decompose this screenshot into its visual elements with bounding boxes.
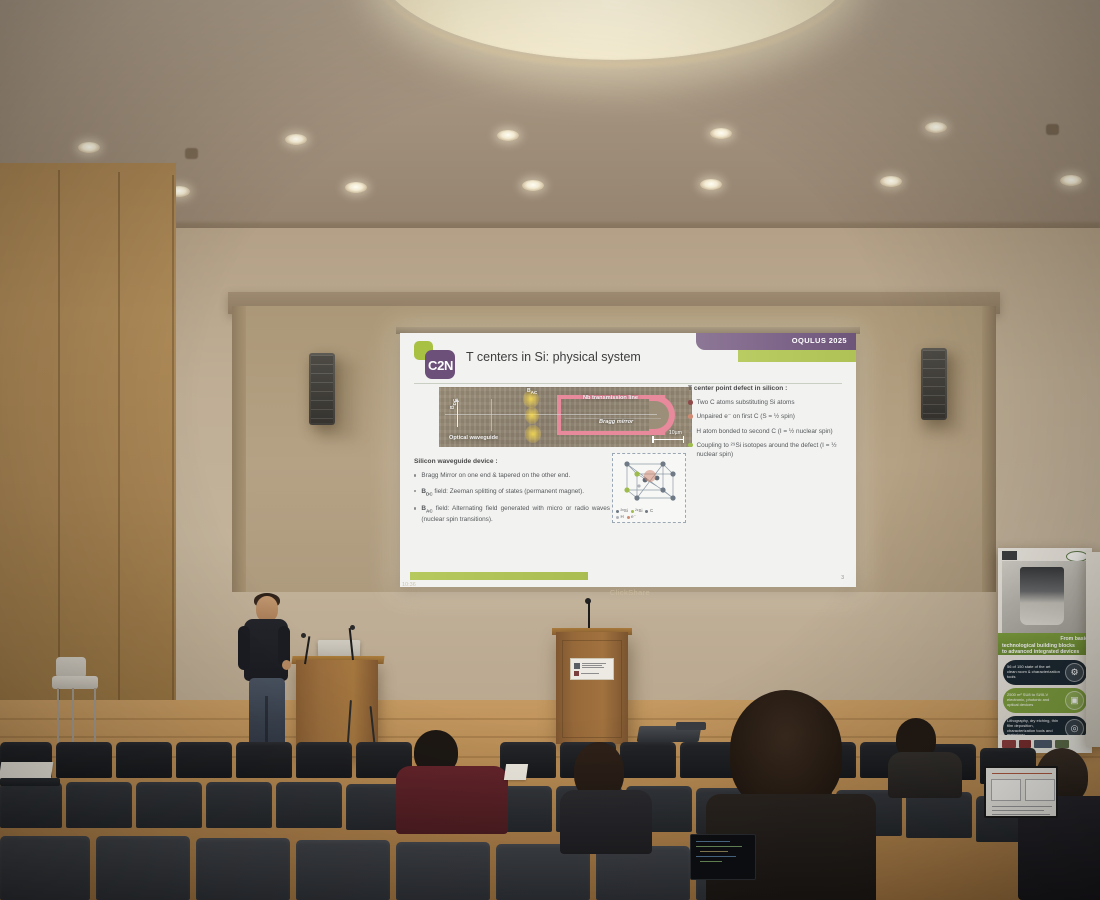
- nb-transmission-line-label: Nb transmission line: [583, 395, 638, 401]
- wood-seam: [58, 170, 60, 710]
- downlight-icon: [522, 180, 544, 191]
- bullet-text-rich: BAC field: Alternating field generated w…: [421, 504, 610, 525]
- slide-header-green-bar: [738, 350, 856, 362]
- scale-bar-label: 10µm: [669, 430, 682, 436]
- downlight-icon: [78, 142, 100, 153]
- seat: [176, 742, 232, 778]
- seat: [296, 742, 352, 778]
- banner-pill-text: 2500 m² SU8 to Si/III-V electronic, phot…: [1003, 693, 1065, 707]
- event-label: OQULUS 2025: [792, 336, 847, 345]
- podium-plaque: [570, 658, 614, 680]
- crystal-legend: ²⁸Si ²⁹Si C H e⁻: [616, 508, 684, 520]
- plaque-row: [574, 671, 610, 676]
- wall-recess-left-jamb: [232, 306, 246, 592]
- legend-item: H: [616, 514, 624, 520]
- seat: [296, 840, 390, 900]
- stool-leg: [72, 688, 74, 743]
- bullet-item: Bragg Mirror on one end & tapered on the…: [414, 471, 610, 481]
- bullet-item: BDC field: Zeeman splitting of states (p…: [414, 487, 610, 498]
- plaque-text-lines: [582, 663, 606, 668]
- desk-ledge: [0, 778, 60, 786]
- code-line: [696, 841, 730, 842]
- ceiling-vent: [185, 148, 198, 159]
- bullet-marker-green: [688, 443, 693, 448]
- b-dc-subscript: DC: [452, 399, 457, 406]
- title-divider: [414, 383, 842, 384]
- plaque-text-lines: [581, 673, 599, 674]
- audience-laptop-dark: [690, 834, 756, 880]
- presenter-arm: [238, 626, 250, 670]
- wood-seam: [172, 175, 174, 703]
- plaque-logo-mark: [574, 663, 580, 669]
- audience-body: [560, 790, 652, 854]
- bullet-marker-small: [414, 490, 416, 492]
- b-dc-arrow-icon: [457, 401, 458, 427]
- c2n-logo: C2N: [412, 341, 456, 379]
- slide-footer-bar: [410, 572, 588, 580]
- bullet-text: Unpaired e⁻ on first C (S = ½ spin): [697, 412, 795, 421]
- bullet-marker-salmon: [688, 414, 693, 419]
- lecture-hall-photo: OQULUS 2025 C2N T centers in Si: physica…: [0, 0, 1100, 900]
- wall-recess-right-jamb: [982, 306, 996, 592]
- laptop-doc-figure: [1025, 779, 1055, 801]
- excitation-glow: [525, 407, 539, 424]
- laptop-doc-line: [992, 773, 1052, 774]
- wood-seam: [118, 172, 120, 706]
- stool-leg: [57, 688, 59, 750]
- lattice-svg: [613, 454, 687, 502]
- bullet-item: Two C atoms substituting Si atoms: [688, 398, 848, 407]
- b-field-subscript: DC: [426, 491, 433, 496]
- bullet-text: H atom bonded to second C (I = ½ nuclear…: [696, 427, 832, 436]
- legend-item: C: [645, 508, 653, 514]
- wood-panel-wall: [0, 163, 176, 763]
- stool-leg: [94, 688, 96, 748]
- bullet-marker-small: [414, 507, 416, 509]
- bullet-marker-small: [689, 430, 691, 432]
- gear-icon: ⚙: [1065, 663, 1084, 682]
- banner-logo-c2n: [1002, 551, 1017, 560]
- bullet-item: H atom bonded to second C (I = ½ nuclear…: [688, 427, 848, 436]
- audience-head: [730, 690, 842, 810]
- slide-number: 3: [841, 575, 844, 581]
- roll-up-banner: From basic technological building blocks…: [998, 548, 1092, 753]
- bullet-text-tail: field: Zeeman splitting of states (perma…: [433, 488, 584, 495]
- bullet-item: BAC field: Alternating field generated w…: [414, 504, 610, 525]
- plaque-secondary-mark: [574, 671, 579, 676]
- seat: [196, 838, 290, 900]
- presentation-slide: OQULUS 2025 C2N T centers in Si: physica…: [400, 333, 856, 587]
- downlight-icon: [925, 122, 947, 133]
- laptop-doc-line: [992, 806, 1052, 807]
- audience-body: [888, 752, 962, 798]
- device-micrograph: BDC BAC Optical waveguide Nb transmissio…: [439, 387, 692, 447]
- b-ac-label-top: BAC: [527, 388, 537, 395]
- presenter-hand: [282, 660, 291, 670]
- seat: [906, 792, 972, 838]
- laptop-doc-line: [992, 814, 1050, 815]
- bullet-item: Coupling to ²⁹Si isotopes around the def…: [688, 441, 848, 460]
- banner-pill-text: 56 of 150 state of the art clean room & …: [1003, 665, 1065, 679]
- seat: [620, 742, 676, 778]
- crystal-lattice-diagram: ²⁸Si ²⁹Si C H e⁻: [612, 453, 686, 523]
- b-dc-label: BDC: [450, 399, 457, 409]
- laptop-doc-line: [992, 810, 1044, 811]
- banner-equipment-illustration: [1020, 567, 1064, 625]
- bullet-marker-small: [414, 474, 416, 476]
- cube-icon: ▣: [1065, 691, 1084, 710]
- legend-item: e⁻: [627, 514, 636, 520]
- roll-up-banner-secondary: [1086, 552, 1100, 747]
- b-ac-subscript: AC: [531, 390, 538, 395]
- audience-papers: [504, 764, 528, 780]
- optical-waveguide-label: Optical waveguide: [449, 435, 498, 441]
- nb-line-segment: [557, 395, 561, 435]
- legend-label: e⁻: [631, 514, 636, 520]
- ceiling-vent: [1046, 124, 1059, 135]
- bullet-text: Two C atoms substituting Si atoms: [697, 398, 795, 407]
- downlight-icon: [710, 128, 732, 139]
- floor-plank: [0, 718, 1100, 720]
- projector-time: 10:36: [402, 582, 416, 588]
- presenter-leg-split: [265, 696, 268, 748]
- legend-label: H: [621, 514, 624, 520]
- plaque-row: [574, 663, 610, 669]
- equipment-case: [676, 722, 706, 730]
- banner-pill: 56 of 150 state of the art clean room & …: [1003, 660, 1087, 685]
- slide-title: T centers in Si: physical system: [466, 350, 641, 364]
- code-line: [700, 861, 722, 862]
- laptop-doc-figure: [991, 779, 1021, 801]
- seat: [136, 782, 202, 828]
- bullet-text-rich: BDC field: Zeeman splitting of states (p…: [421, 487, 584, 498]
- bullet-text-tail: field: Alternating field generated with …: [421, 505, 610, 523]
- audience-laptop: [984, 766, 1058, 818]
- seat: [96, 836, 190, 900]
- banner-equipment-photo: [1002, 561, 1088, 633]
- right-column-heading: T center point defect in silicon :: [688, 385, 848, 392]
- excitation-glow: [525, 425, 541, 443]
- downlight-icon: [1060, 175, 1082, 186]
- bar-stool-back: [56, 657, 86, 678]
- downlight-icon: [700, 179, 722, 190]
- seat: [116, 742, 172, 778]
- banner-pill: 2500 m² SU8 to Si/III-V electronic, phot…: [1003, 688, 1087, 713]
- seat: [56, 742, 112, 778]
- footer-logo: [1019, 740, 1031, 748]
- optical-waveguide-line: [445, 414, 657, 415]
- wall-speaker-right: [921, 348, 947, 420]
- b-dc-symbol: B: [450, 405, 456, 409]
- audience-body: [396, 766, 508, 834]
- waveguide-taper: [491, 399, 492, 431]
- banner-tagline: From basic technological building blocks…: [998, 633, 1092, 655]
- legend-row: H e⁻: [616, 514, 684, 520]
- left-column-heading: Silicon waveguide device :: [414, 458, 610, 465]
- right-text-column: T center point defect in silicon : Two C…: [688, 385, 848, 464]
- banner-tagline-line3: to advanced integrated devices: [1002, 649, 1088, 656]
- downlight-icon: [497, 130, 519, 141]
- legend-label: C: [650, 508, 653, 514]
- legend-label: ²⁹Si: [635, 508, 642, 514]
- seat: [596, 846, 690, 900]
- clickshare-label: ClickShare: [540, 588, 720, 597]
- downlight-icon: [880, 176, 902, 187]
- footer-logo: [1034, 740, 1052, 748]
- seat: [66, 782, 132, 828]
- seat: [0, 836, 90, 900]
- microphone-head-icon: [301, 633, 306, 638]
- wall-speaker-left: [309, 353, 335, 425]
- scale-bar-icon: [652, 439, 684, 441]
- code-line: [700, 851, 728, 852]
- seat: [0, 782, 62, 828]
- downlight-icon: [345, 182, 367, 193]
- bragg-mirror-label: Bragg mirror: [599, 419, 633, 425]
- code-line: [696, 856, 736, 857]
- podium: [556, 632, 628, 744]
- bullet-text: Bragg Mirror on one end & tapered on the…: [421, 471, 570, 481]
- footer-logo: [1055, 740, 1069, 748]
- seat: [206, 782, 272, 828]
- microphone-head-icon: [350, 625, 355, 630]
- bullet-item: Unpaired e⁻ on first C (S = ½ spin): [688, 412, 848, 421]
- seat: [276, 782, 342, 828]
- podium-panel: [562, 640, 622, 738]
- bullet-text: Coupling to ²⁹Si isotopes around the def…: [697, 441, 849, 460]
- code-line: [696, 846, 742, 847]
- b-field-subscript: AC: [426, 508, 433, 513]
- seat: [680, 742, 736, 778]
- seat: [236, 742, 292, 778]
- bullet-marker-maroon: [688, 400, 693, 405]
- left-text-column: Silicon waveguide device : Bragg Mirror …: [414, 458, 610, 531]
- footer-logo: [1002, 740, 1016, 748]
- downlight-icon: [285, 134, 307, 145]
- logo-text: C2N: [428, 358, 453, 373]
- seat: [396, 842, 490, 900]
- projection-screen: OQULUS 2025 C2N T centers in Si: physica…: [400, 333, 856, 587]
